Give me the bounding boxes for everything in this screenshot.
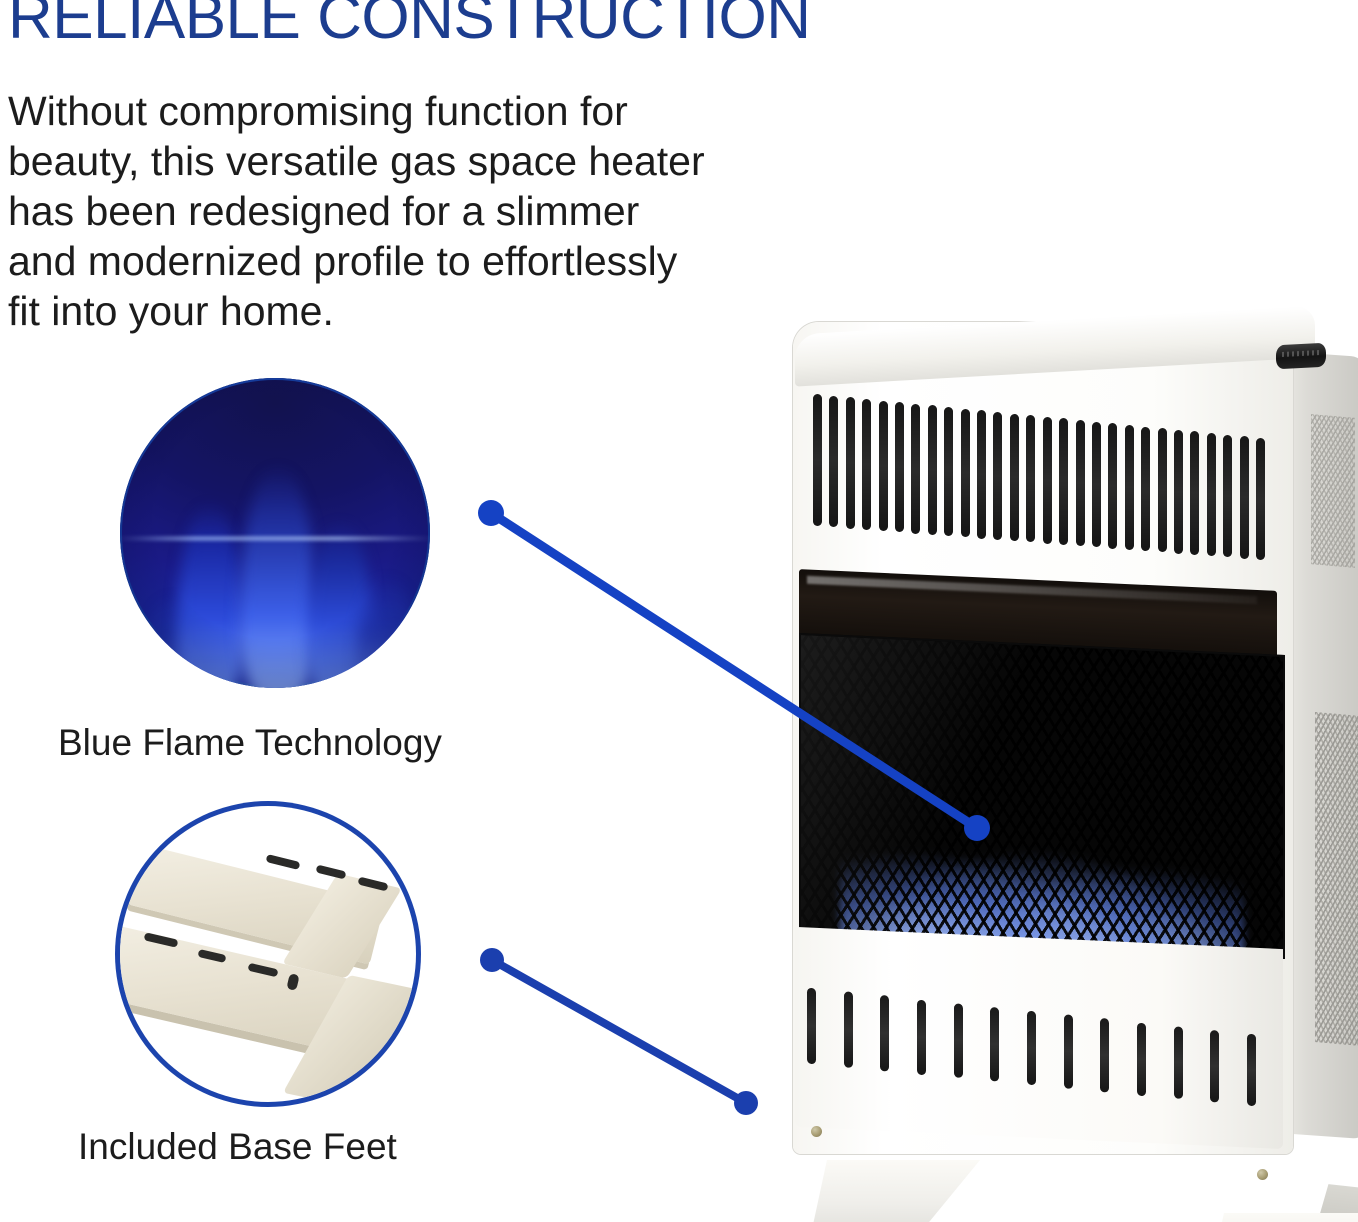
callout-label-base-feet: Included Base Feet bbox=[78, 1126, 397, 1168]
description-line: beauty, this versatile gas space heater bbox=[8, 136, 768, 186]
top-vent-panel bbox=[813, 394, 1265, 594]
top-vent-slot bbox=[1190, 431, 1199, 554]
description-line: and modernized profile to effortlessly bbox=[8, 236, 768, 286]
top-vent-slot bbox=[829, 396, 838, 528]
top-vent-slot bbox=[862, 399, 871, 530]
blue-flame-detail-circle bbox=[120, 378, 430, 688]
grille-sheen bbox=[801, 635, 1283, 957]
lower-vent-slot bbox=[1174, 1026, 1183, 1099]
mesh-grille bbox=[799, 633, 1285, 959]
top-vent-slot bbox=[1092, 422, 1101, 548]
lower-vent-slot bbox=[844, 992, 853, 1068]
control-knob[interactable] bbox=[1276, 343, 1326, 370]
lower-vent-slot bbox=[1064, 1015, 1073, 1089]
side-mesh-upper bbox=[1311, 414, 1355, 568]
description-line: fit into your home. bbox=[8, 286, 768, 336]
top-vent-slot bbox=[911, 404, 920, 534]
top-vent-slot bbox=[944, 407, 953, 536]
right-base-foot bbox=[1207, 1213, 1358, 1222]
lower-vent-slots bbox=[807, 988, 1257, 1130]
top-vent-slot bbox=[1223, 435, 1232, 558]
cabinet-screw bbox=[1257, 1169, 1268, 1180]
product-image-gas-heater bbox=[700, 280, 1358, 1222]
lower-vent-slot bbox=[954, 1003, 963, 1078]
lower-vent-slot bbox=[1247, 1034, 1256, 1106]
side-mesh-lower bbox=[1315, 712, 1358, 1046]
lower-vent-slot bbox=[990, 1007, 999, 1082]
top-vent-slot bbox=[1108, 423, 1117, 548]
base-feet-detail-circle bbox=[120, 806, 416, 1102]
top-vent-slot bbox=[928, 405, 937, 534]
top-vent-slot bbox=[1125, 425, 1134, 550]
heater-cabinet bbox=[755, 308, 1350, 1146]
left-base-foot bbox=[810, 1160, 980, 1222]
description-line: Without compromising function for bbox=[8, 86, 768, 136]
top-vent-slot bbox=[961, 409, 970, 538]
top-vent-slot bbox=[993, 412, 1002, 540]
top-vent-slot bbox=[1076, 420, 1085, 546]
top-vent-slot bbox=[1207, 433, 1216, 556]
callout-label-blue-flame: Blue Flame Technology bbox=[58, 722, 442, 764]
top-vent-slot bbox=[1026, 415, 1035, 542]
top-vent-slot bbox=[977, 410, 986, 538]
top-vent-slot bbox=[895, 402, 904, 532]
top-vent-slot bbox=[1141, 427, 1150, 552]
description-line: has been redesigned for a slimmer bbox=[8, 186, 768, 236]
top-vent-slot bbox=[1010, 414, 1019, 542]
lower-vent-slot bbox=[1210, 1030, 1219, 1103]
top-vent-slot bbox=[1158, 428, 1167, 552]
infographic-page: RELIABLE CONSTRUCTION Without compromisi… bbox=[0, 0, 1358, 1222]
lower-vent-slot bbox=[880, 995, 889, 1071]
top-vent-slot bbox=[1059, 418, 1068, 544]
cabinet-screw bbox=[811, 1126, 822, 1137]
top-vent-slot bbox=[1043, 417, 1052, 544]
lower-vent-slot bbox=[1100, 1018, 1109, 1092]
lower-vent-slot bbox=[917, 999, 926, 1074]
top-vent-slot bbox=[846, 397, 855, 528]
page-title: RELIABLE CONSTRUCTION bbox=[8, 0, 968, 49]
top-vent-slot bbox=[1256, 438, 1265, 560]
top-vent-slot bbox=[1174, 430, 1183, 554]
top-vent-slot bbox=[813, 394, 822, 526]
lower-vent-slot bbox=[1027, 1011, 1036, 1085]
circle-vignette bbox=[120, 378, 430, 688]
foot-slot bbox=[266, 854, 301, 870]
description-paragraph: Without compromising function for beauty… bbox=[8, 86, 768, 336]
top-vent-slot bbox=[879, 401, 888, 532]
foot-slot bbox=[315, 864, 346, 879]
lower-vent-slot bbox=[1137, 1022, 1146, 1095]
top-vent-slot bbox=[1240, 436, 1249, 558]
lower-vent-slot bbox=[807, 988, 816, 1064]
